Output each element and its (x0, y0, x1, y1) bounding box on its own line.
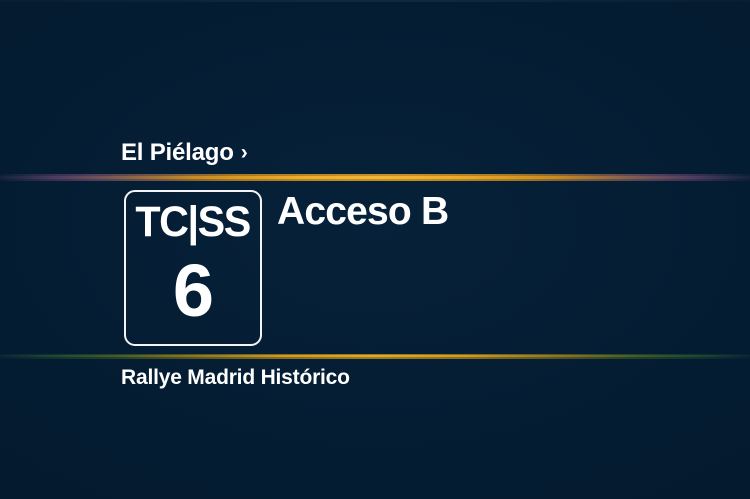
breadcrumb-label: El Piélago (121, 141, 234, 165)
top-sheen-highlight (0, 0, 750, 2)
breadcrumb[interactable]: El Piélago › (121, 141, 248, 165)
divider-top-core (0, 176, 750, 179)
page-title: Acceso B (277, 192, 448, 231)
event-name-label: Rallye Madrid Histórico (121, 367, 350, 388)
stage-plate[interactable]: TC|SS 6 (124, 190, 262, 346)
stage-plate-code: TC|SS (136, 201, 250, 244)
chevron-right-icon: › (241, 142, 248, 163)
stage-info-card: El Piélago › TC|SS 6 Acceso B Rallye Mad… (0, 0, 750, 499)
stage-plate-number: 6 (173, 254, 213, 328)
divider-bottom-core (0, 355, 750, 357)
divider-bottom (0, 354, 750, 359)
divider-top (0, 174, 750, 181)
